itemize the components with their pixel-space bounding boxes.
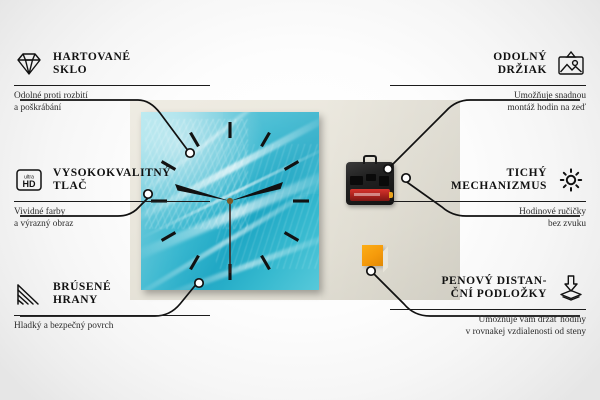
feature-description: Hodinové ručičky bez zvuku bbox=[390, 207, 586, 230]
stacked-layers-arrow-icon bbox=[556, 274, 586, 302]
diamond-icon bbox=[14, 50, 44, 78]
desc-line-1: Umožňuje vám držať hodiny bbox=[390, 315, 586, 327]
title-line-2: SKLO bbox=[53, 64, 131, 78]
divider bbox=[14, 201, 210, 202]
title-line-1: TICHÝ bbox=[451, 167, 547, 181]
battery bbox=[350, 189, 390, 201]
foam-spacer-pad bbox=[362, 245, 383, 266]
feature-header: PENOVÝ DISTAN- ČNÍ PODLOŽKY bbox=[390, 272, 586, 304]
divider bbox=[390, 85, 586, 86]
picture-frame-icon bbox=[556, 50, 586, 78]
feature-header: HARTOVANÉ SKLO bbox=[14, 48, 210, 80]
title-line-1: VYSOKOKVALITNÝ bbox=[53, 167, 171, 181]
title-line-1: HARTOVANÉ bbox=[53, 51, 131, 65]
feature-description: Odolné proti rozbití a poškrábání bbox=[14, 91, 210, 114]
desc-line-2: a poškrábání bbox=[14, 103, 210, 115]
divider bbox=[390, 201, 586, 202]
mechanism-slot bbox=[366, 174, 376, 181]
desc-line-1: Vividné farby bbox=[14, 207, 210, 219]
infographic-canvas: HARTOVANÉ SKLO Odolné proti rozbití a po… bbox=[0, 0, 600, 400]
feature-title: HARTOVANÉ SKLO bbox=[53, 51, 131, 78]
feature-title: VYSOKOKVALITNÝ TLAČ bbox=[53, 167, 171, 194]
desc-line-2: a výrazný obraz bbox=[14, 219, 210, 231]
title-line-1: BRÚSENÉ bbox=[53, 281, 111, 295]
feature-header: ODOLNÝ DRŽIAK bbox=[390, 48, 586, 80]
feature-header: ultra HD VYSOKOKVALITNÝ TLAČ bbox=[14, 164, 210, 196]
feature-silent-mechanism: TICHÝ MECHANIZMUS Hodinové ručičky bez z… bbox=[390, 164, 586, 230]
feature-title: PENOVÝ DISTAN- ČNÍ PODLOŽKY bbox=[441, 275, 547, 302]
hour-hand bbox=[230, 182, 283, 201]
feature-title: BRÚSENÉ HRANY bbox=[53, 281, 111, 308]
mechanism-slot bbox=[379, 176, 389, 186]
gear-icon bbox=[556, 166, 586, 194]
feature-title: ODOLNÝ DRŽIAK bbox=[493, 51, 547, 78]
divider bbox=[390, 309, 586, 310]
desc-line-1: Hodinové ručičky bbox=[390, 207, 586, 219]
title-line-2: TLAČ bbox=[53, 180, 171, 194]
clock-mechanism bbox=[346, 162, 394, 205]
desc-line-2: v rovnakej vzdialenosti od steny bbox=[390, 327, 586, 339]
feature-title: TICHÝ MECHANIZMUS bbox=[451, 167, 547, 194]
feature-header: TICHÝ MECHANIZMUS bbox=[390, 164, 586, 196]
svg-text:HD: HD bbox=[23, 179, 36, 189]
feature-description: Hladký a bezpečný povrch bbox=[14, 321, 210, 333]
desc-line-2: montáž hodin na zeď bbox=[390, 103, 586, 115]
feature-header: BRÚSENÉ HRANY bbox=[14, 278, 210, 310]
ultra-hd-icon: ultra HD bbox=[14, 166, 44, 194]
feature-durable-holder: ODOLNÝ DRŽIAK Umožňuje snadnou montáž ho… bbox=[390, 48, 586, 114]
feature-description: Umožňuje snadnou montáž hodin na zeď bbox=[390, 91, 586, 114]
mechanism-slot bbox=[350, 176, 363, 185]
desc-line-1: Hladký a bezpečný povrch bbox=[14, 321, 210, 333]
feature-polished-edges: BRÚSENÉ HRANY Hladký a bezpečný povrch bbox=[14, 278, 210, 333]
desc-line-1: Odolné proti rozbití bbox=[14, 91, 210, 103]
title-line-1: PENOVÝ DISTAN- bbox=[441, 275, 547, 289]
title-line-2: HRANY bbox=[53, 294, 111, 308]
divider bbox=[14, 85, 210, 86]
desc-line-2: bez zvuku bbox=[390, 219, 586, 231]
title-line-2: MECHANIZMUS bbox=[451, 180, 547, 194]
battery-stripe bbox=[354, 193, 380, 196]
feature-description: Vividné farby a výrazný obraz bbox=[14, 207, 210, 230]
feature-high-quality-print: ultra HD VYSOKOKVALITNÝ TLAČ Vividné far… bbox=[14, 164, 210, 230]
mechanism-hook bbox=[363, 155, 377, 164]
hand-hub bbox=[227, 198, 233, 204]
title-line-1: ODOLNÝ bbox=[493, 51, 547, 65]
feature-description: Umožňuje vám držať hodiny v rovnakej vzd… bbox=[390, 315, 586, 338]
title-line-2: ČNÍ PODLOŽKY bbox=[441, 288, 547, 302]
divider bbox=[14, 315, 210, 316]
title-line-2: DRŽIAK bbox=[493, 64, 547, 78]
feature-tempered-glass: HARTOVANÉ SKLO Odolné proti rozbití a po… bbox=[14, 48, 210, 114]
hatched-edge-icon bbox=[14, 280, 44, 308]
desc-line-1: Umožňuje snadnou bbox=[390, 91, 586, 103]
feature-foam-spacers: PENOVÝ DISTAN- ČNÍ PODLOŽKY Umožňuje vám… bbox=[390, 272, 586, 338]
